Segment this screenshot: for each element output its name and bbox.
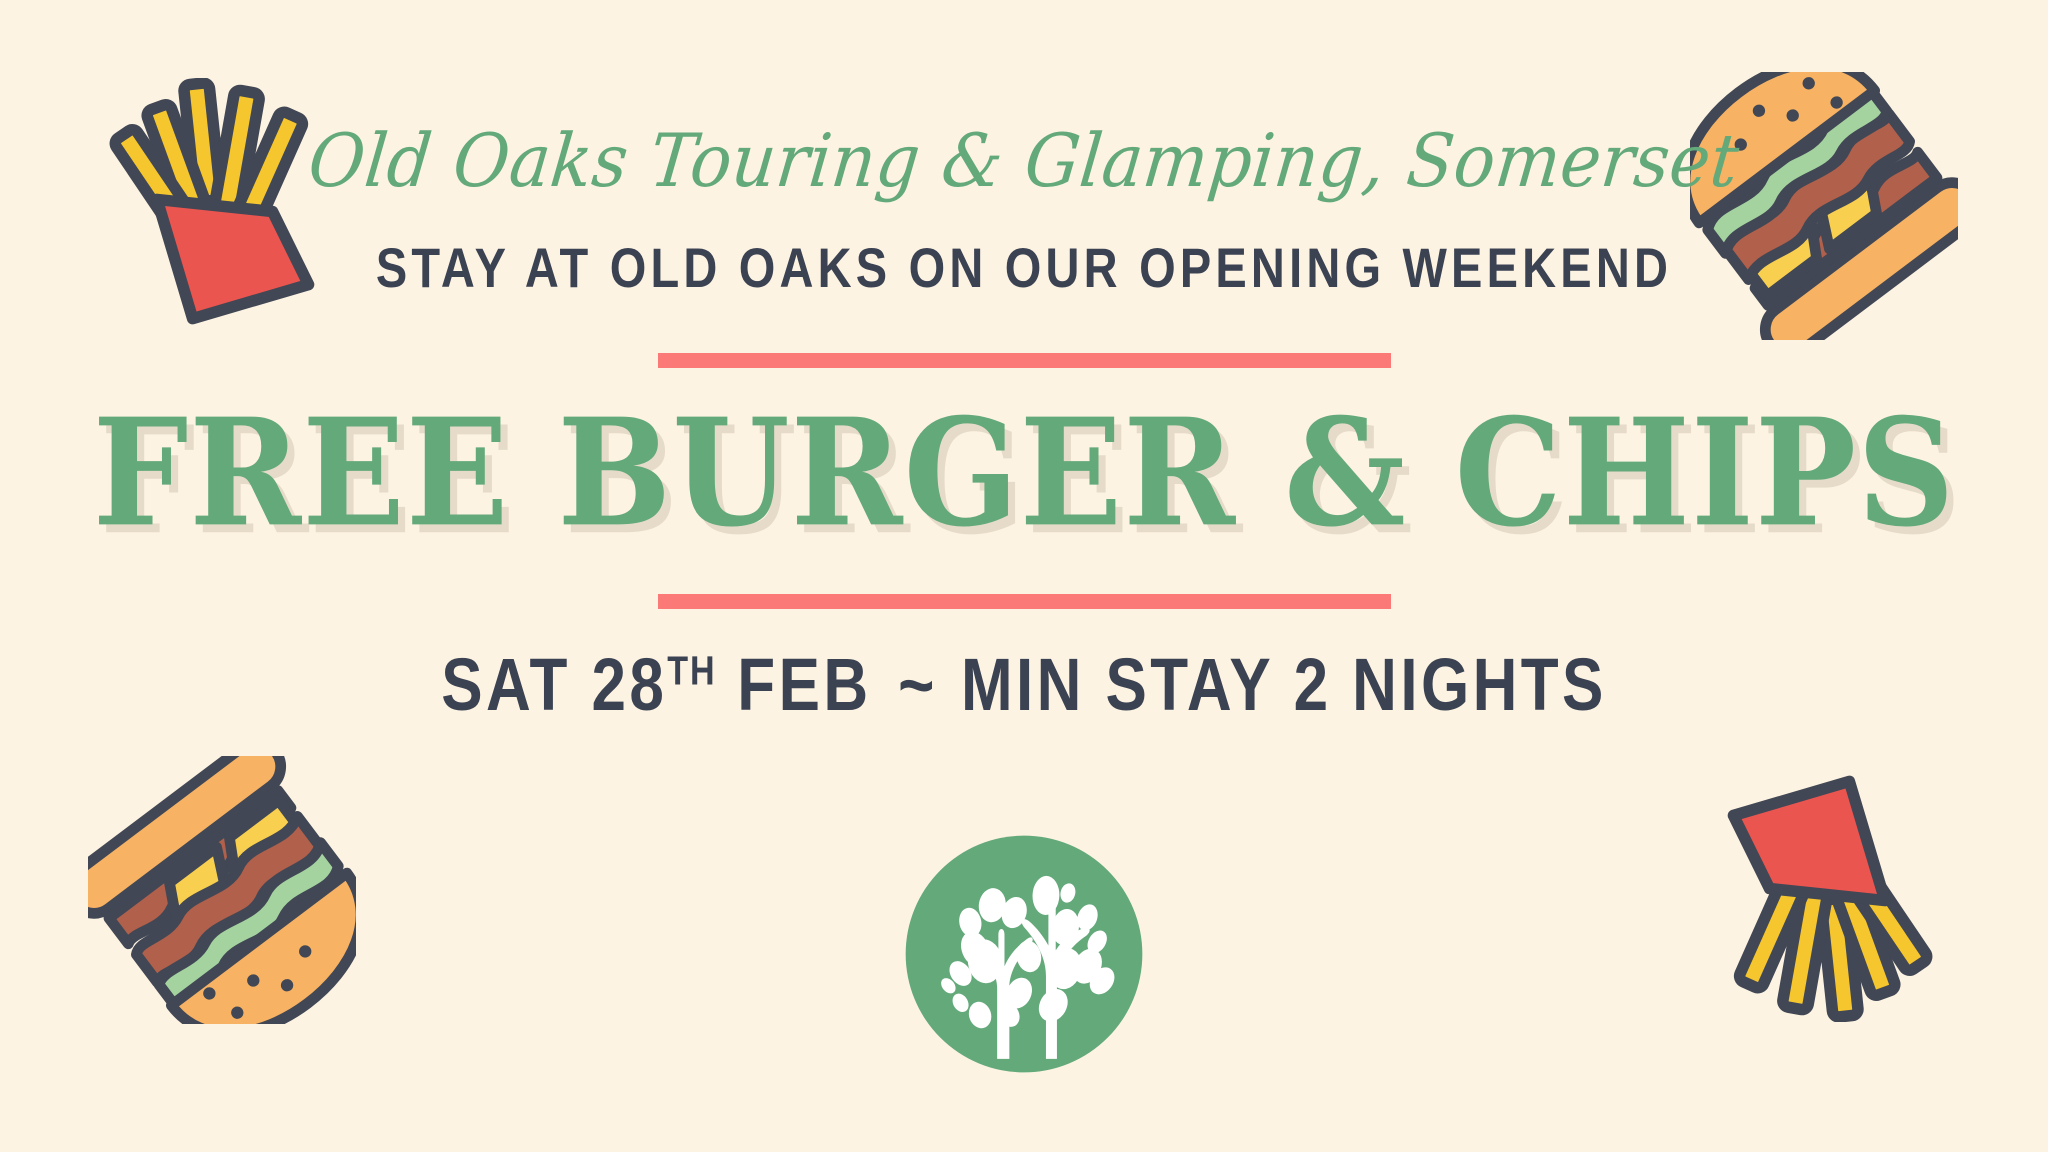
date-prefix: SAT 28 — [441, 644, 667, 727]
date-ordinal: TH — [667, 649, 716, 695]
stay-requirement: MIN STAY 2 NIGHTS — [961, 644, 1607, 727]
headline: FREE BURGER & CHIPS — [93, 400, 1956, 548]
divider-top — [658, 353, 1391, 368]
date-month: FEB — [737, 644, 871, 727]
date-line: SAT 28TH FEB ~ MIN STAY 2 NIGHTS — [441, 649, 1607, 723]
promo-poster: Old Oaks Touring & Glamping, Somerset ST… — [0, 0, 2048, 1152]
script-title: Old Oaks Touring & Glamping, Somerset — [305, 125, 1742, 198]
poster-content: Old Oaks Touring & Glamping, Somerset ST… — [0, 0, 2048, 1152]
separator: ~ — [892, 644, 940, 727]
divider-bottom — [658, 594, 1391, 609]
subtitle: STAY AT OLD OAKS ON OUR OPENING WEEKEND — [376, 240, 1672, 295]
